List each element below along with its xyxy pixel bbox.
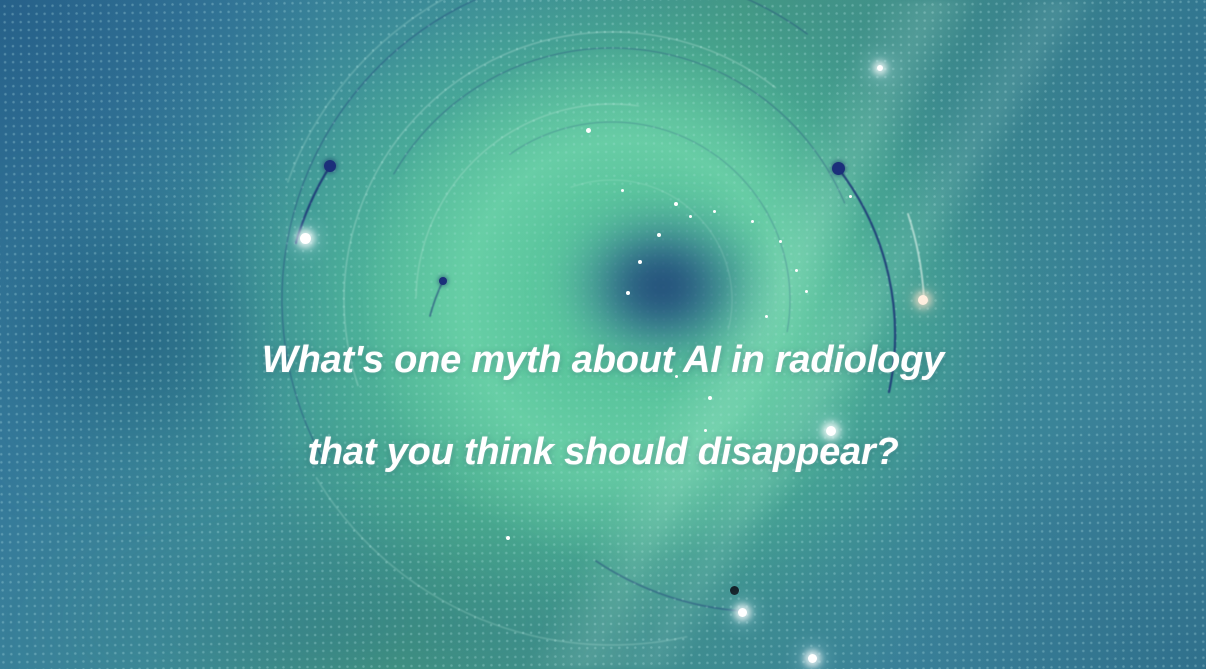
particle-dot-19 [877,65,883,71]
headline-line-2: that you think should disappear? [0,429,1206,475]
particle-navy-upper-right [832,162,845,175]
particle-dot-1 [586,128,591,133]
particle-dot-2 [674,202,678,206]
comet-tail-right-light [908,214,924,299]
comet-tail-bottom [596,561,742,611]
slide-canvas: What's one myth about AI in radiology th… [0,0,1206,669]
particle-dot-18 [849,195,852,198]
particle-dot-12 [621,189,624,192]
particle-dot-4 [713,210,716,213]
particle-navy-inner-left [439,277,447,285]
particle-dot-5 [751,220,754,223]
particle-dark-bottom [730,586,739,595]
particle-dot-6 [657,233,661,237]
particle-dot-17 [506,536,510,540]
particle-dot-8 [638,260,642,264]
particle-dot-7 [779,240,782,243]
particle-dot-3 [689,215,692,218]
headline-text: What's one myth about AI in radiology th… [0,291,1206,521]
particle-navy-upper-left [324,160,336,172]
particle-glow-left [300,233,311,244]
particle-glow-bottom-b [808,654,817,663]
headline-line-1: What's one myth about AI in radiology [0,337,1206,383]
particle-dot-9 [795,269,798,272]
particle-glow-bottom-a [738,608,747,617]
comet-tail-left-navy [296,166,330,243]
